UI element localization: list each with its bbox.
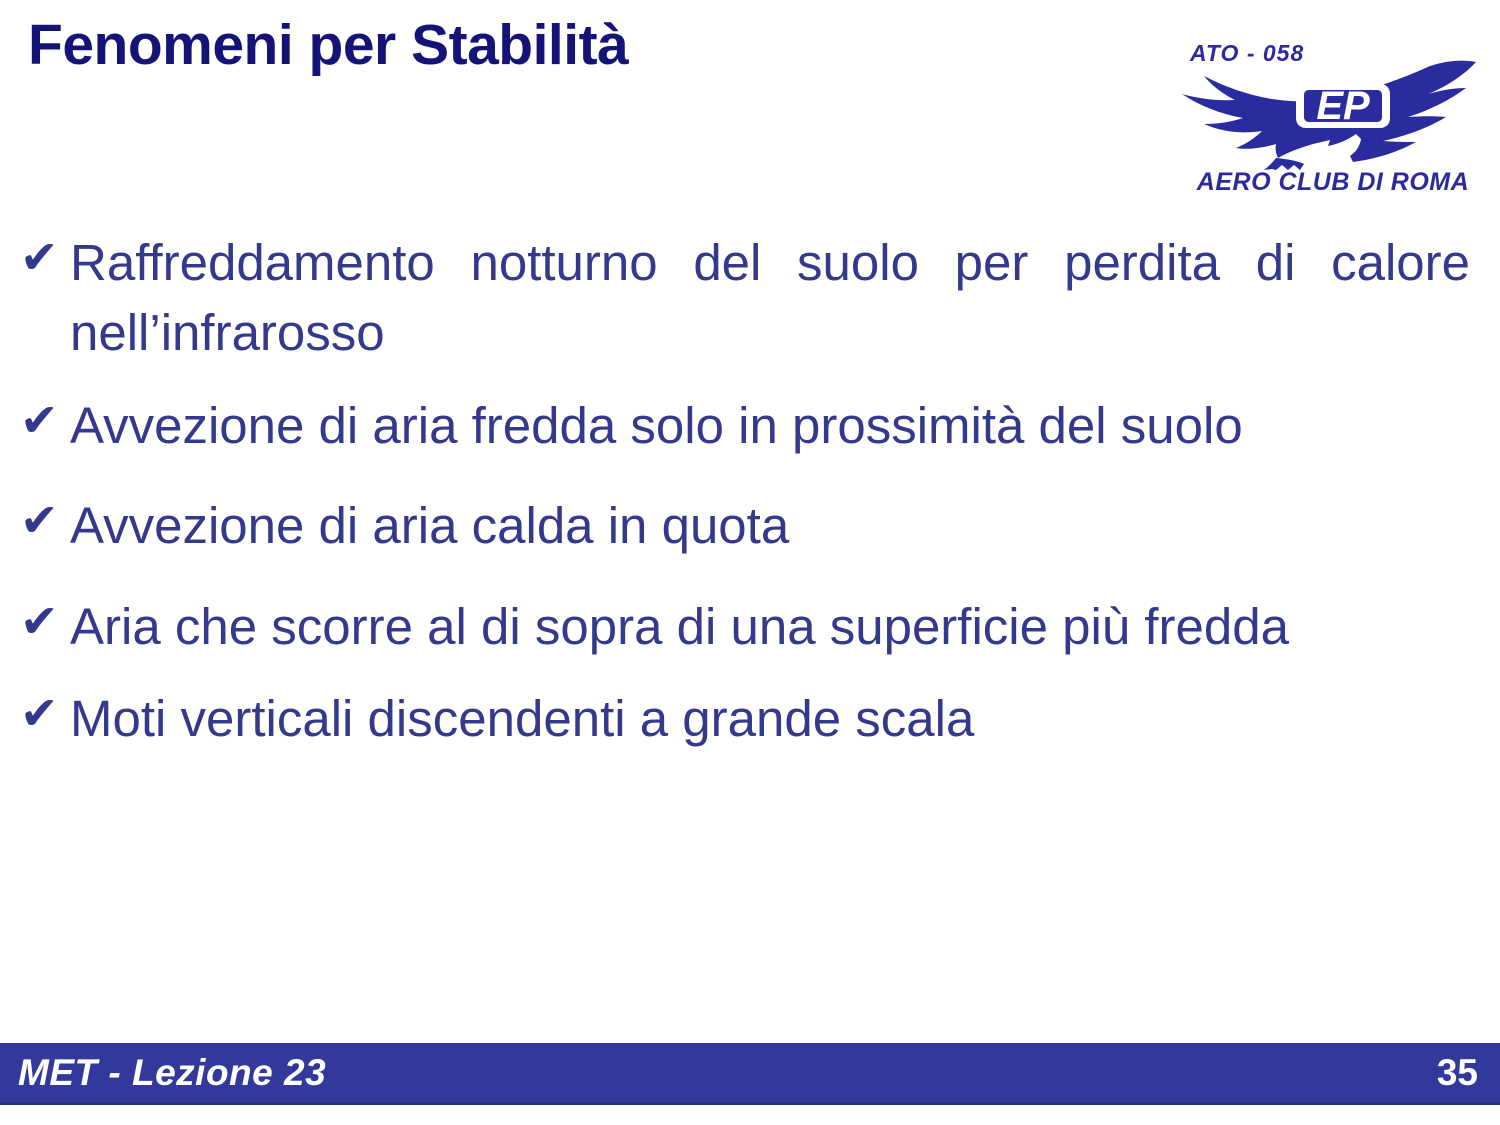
list-item-label: Moti verticali discendenti a grande scal… bbox=[70, 684, 1470, 754]
aero-club-logo: ATO - 058 EP AERO CLUB DI ROMA bbox=[1168, 18, 1488, 208]
slide: Fenomeni per Stabilità ATO - 058 EP AERO… bbox=[0, 0, 1500, 1125]
bullet-list: ✔ Raffreddamento notturno del suolo per … bbox=[20, 228, 1470, 754]
list-item: ✔ Raffreddamento notturno del suolo per … bbox=[20, 228, 1470, 369]
list-item: ✔ Moti verticali discendenti a grande sc… bbox=[20, 684, 1470, 754]
eagle-icon: EP bbox=[1180, 60, 1480, 170]
list-item: ✔ Aria che scorre al di sopra di una sup… bbox=[20, 592, 1470, 662]
list-item-label: Aria che scorre al di sopra di una super… bbox=[70, 592, 1470, 662]
logo-club-name: AERO CLUB DI ROMA bbox=[1188, 168, 1478, 197]
checkmark-icon: ✔ bbox=[20, 684, 70, 740]
list-item-label: Avvezione di aria calda in quota bbox=[70, 491, 1470, 561]
list-item-label: Raffreddamento notturno del suolo per pe… bbox=[70, 228, 1470, 369]
checkmark-icon: ✔ bbox=[20, 228, 70, 284]
footer-page-number: 35 bbox=[1437, 1052, 1478, 1094]
footer-lecture-label: MET - Lezione 23 bbox=[18, 1052, 326, 1094]
logo-monogram-text: EP bbox=[1316, 84, 1370, 128]
page-title: Fenomeni per Stabilità bbox=[28, 16, 1118, 76]
checkmark-icon: ✔ bbox=[20, 592, 70, 648]
list-item: ✔ Avvezione di aria calda in quota bbox=[20, 491, 1470, 561]
list-item: ✔ Avvezione di aria fredda solo in pross… bbox=[20, 391, 1470, 461]
checkmark-icon: ✔ bbox=[20, 491, 70, 547]
slide-footer: MET - Lezione 23 35 bbox=[0, 1043, 1500, 1105]
list-item-label: Avvezione di aria fredda solo in prossim… bbox=[70, 391, 1470, 461]
checkmark-icon: ✔ bbox=[20, 391, 70, 447]
